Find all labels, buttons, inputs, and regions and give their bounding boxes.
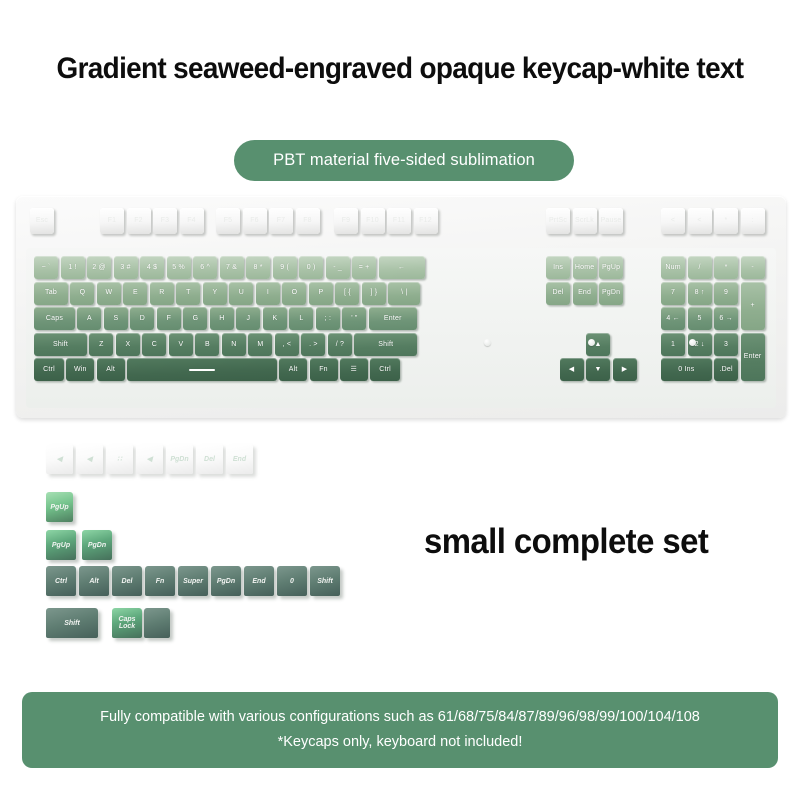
loose-keycaps-group: ◀◀∷◀PgDnDelEndPgUpPgUpPgDnCtrlAltDelFnSu… [0, 0, 800, 800]
keycap-legend: Del [204, 456, 215, 463]
loose-cap-key--0[interactable]: ◀ [46, 444, 73, 474]
compatibility-line-1: Fully compatible with various configurat… [100, 705, 700, 730]
keycap-legend: Alt [89, 578, 98, 585]
keycap-legend: ◀ [57, 456, 62, 463]
keycap-legend: Shift [317, 578, 333, 585]
loose-cap-key-pgup-pair-0[interactable]: PgUp [46, 530, 76, 560]
keycap-legend: Caps Lock [112, 616, 142, 630]
keycap-legend: PgUp [52, 542, 70, 549]
loose-cap-key-shift-8[interactable]: Shift [310, 566, 340, 596]
keycap-legend: PgDn [217, 578, 235, 585]
keycap-legend: PgUp [50, 504, 68, 511]
keycap-legend: Super [183, 578, 203, 585]
loose-cap-key-ctrl-0[interactable]: Ctrl [46, 566, 76, 596]
loose-cap-key-pgdn-5[interactable]: PgDn [211, 566, 241, 596]
keycap-legend: ∷ [117, 456, 121, 463]
loose-cap-key-pgdn-pair-1[interactable]: PgDn [82, 530, 112, 560]
loose-cap-key--1[interactable]: ◀ [76, 444, 103, 474]
loose-cap-key-alt-1[interactable]: Alt [79, 566, 109, 596]
loose-cap-caps-lock[interactable]: Caps Lock [112, 608, 142, 638]
keycap-legend: Ctrl [55, 578, 67, 585]
keycap-legend: Del [122, 578, 133, 585]
loose-cap-key-pgdn-4[interactable]: PgDn [166, 444, 193, 474]
loose-cap-pgup-single[interactable]: PgUp [46, 492, 73, 522]
loose-cap-key--3[interactable]: ◀ [136, 444, 163, 474]
set-label: small complete set [424, 522, 708, 562]
loose-cap-key-super-4[interactable]: Super [178, 566, 208, 596]
keycap-legend: PgDn [88, 542, 106, 549]
keycap-legend: ◀ [87, 456, 92, 463]
loose-cap-key-0-7[interactable]: 0 [277, 566, 307, 596]
keycap-legend: ◀ [147, 456, 152, 463]
keycap-legend: End [233, 456, 246, 463]
keycap-legend: 0 [290, 578, 294, 585]
compatibility-line-2: *Keycaps only, keyboard not included! [278, 730, 523, 755]
product-image: Gradient seaweed-engraved opaque keycap-… [0, 0, 800, 800]
loose-cap-blank[interactable] [144, 608, 170, 638]
loose-cap-key-fn-3[interactable]: Fn [145, 566, 175, 596]
keycap-legend: PgDn [170, 456, 188, 463]
loose-cap-key-del-2[interactable]: Del [112, 566, 142, 596]
keycap-legend: Fn [156, 578, 165, 585]
loose-cap-key-del-5[interactable]: Del [196, 444, 223, 474]
loose-cap-key-end-6[interactable]: End [226, 444, 253, 474]
keycap-legend: End [252, 578, 265, 585]
loose-cap-shift-wide[interactable]: Shift [46, 608, 98, 638]
keycap-legend: Shift [64, 620, 80, 627]
loose-cap-key--2[interactable]: ∷ [106, 444, 133, 474]
loose-cap-key-end-6[interactable]: End [244, 566, 274, 596]
compatibility-banner: Fully compatible with various configurat… [22, 692, 778, 768]
